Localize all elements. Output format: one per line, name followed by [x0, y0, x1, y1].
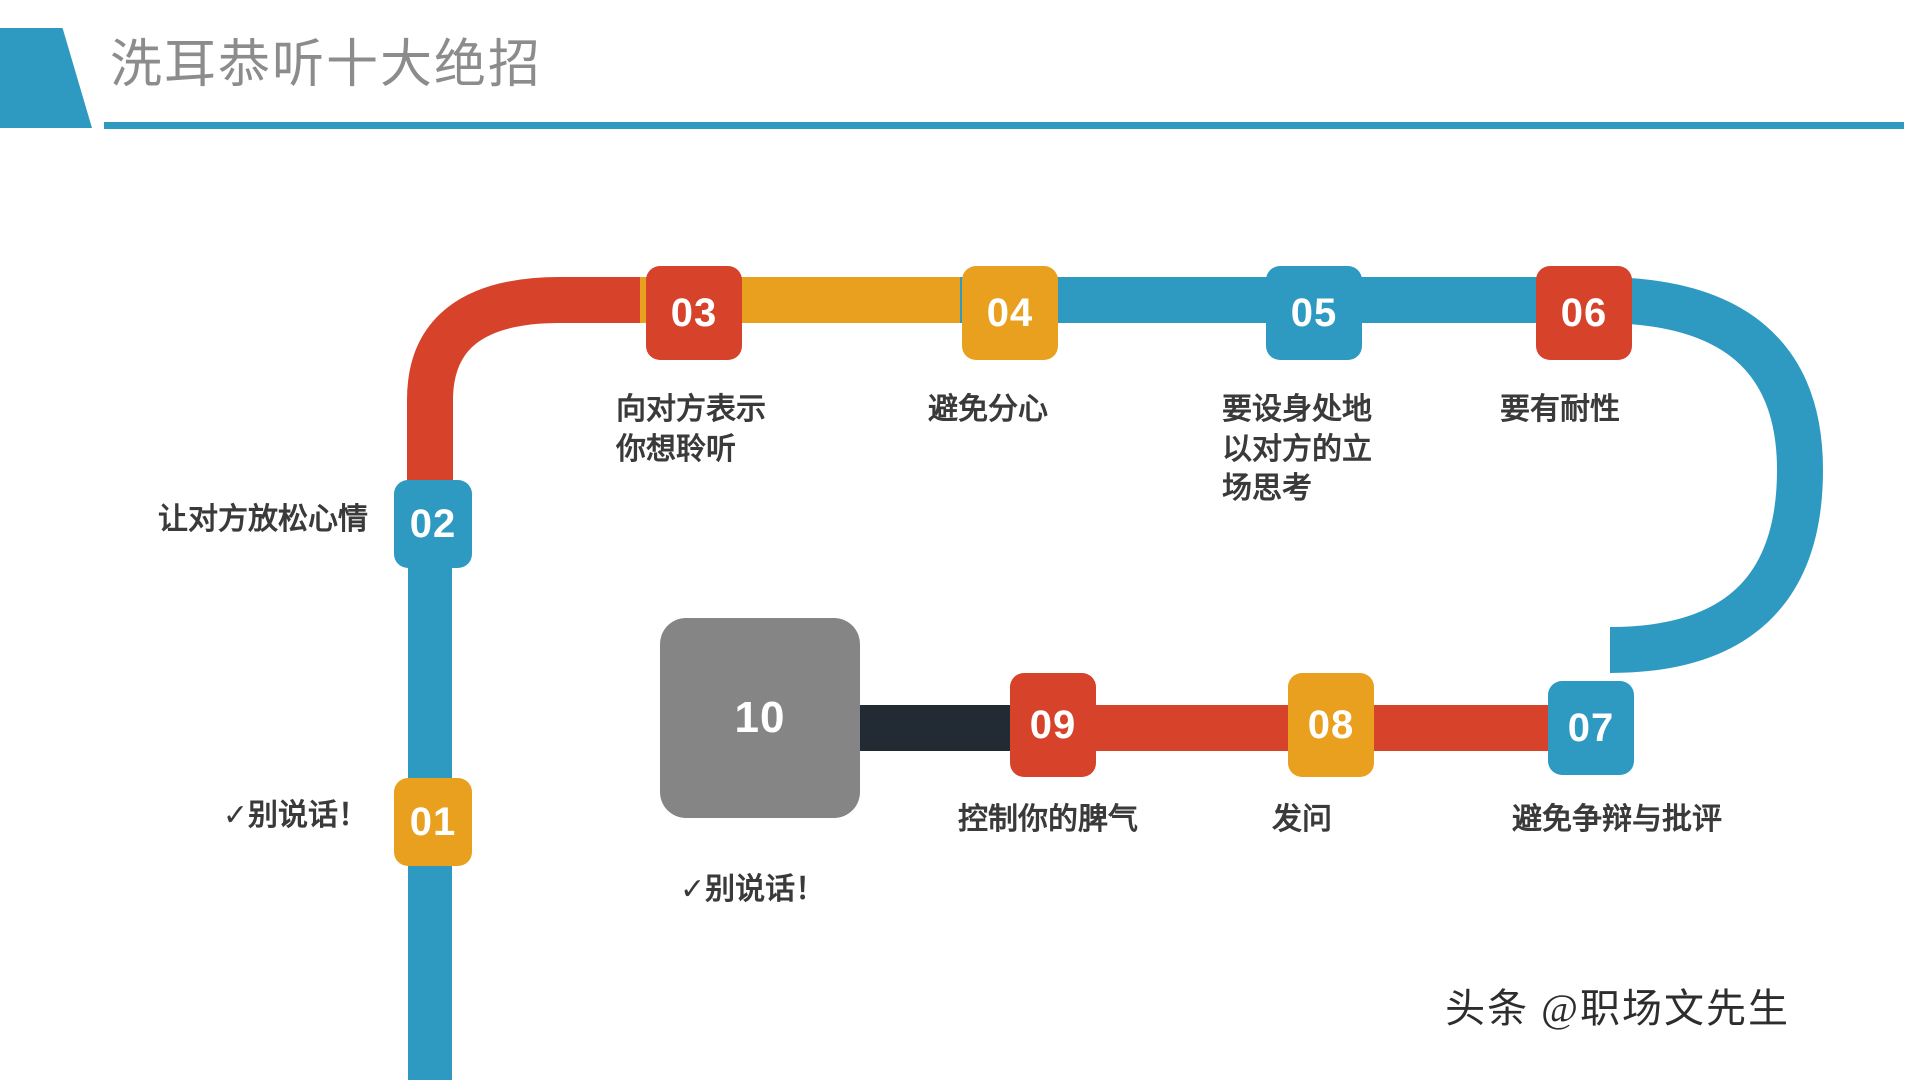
node-09-number: 09: [1030, 703, 1077, 748]
node-03-number: 03: [671, 291, 718, 336]
node-06-number: 06: [1561, 291, 1608, 336]
node-08-number: 08: [1308, 703, 1355, 748]
node-08-label: 发问: [1272, 800, 1472, 840]
node-05-number: 05: [1291, 291, 1338, 336]
node-01[interactable]: 01: [394, 778, 472, 866]
node-07-label: 避免争辩与批评: [1512, 800, 1852, 840]
node-10[interactable]: 10: [660, 618, 860, 818]
node-09-label: 控制你的脾气: [958, 800, 1208, 840]
node-02[interactable]: 02: [394, 480, 472, 568]
node-02-number: 02: [410, 502, 457, 547]
node-03[interactable]: 03: [646, 266, 742, 360]
node-04[interactable]: 04: [962, 266, 1058, 360]
node-10-label: ✓别说话！: [680, 870, 980, 910]
process-flow-diagram: 03 向对方表示 你想聆听 04 避免分心 05 要设身处地 以对方的立 场思考…: [0, 0, 1920, 1080]
node-08[interactable]: 08: [1288, 673, 1374, 777]
node-04-number: 04: [987, 291, 1034, 336]
watermark-text: 头条 @职场文先生: [1445, 976, 1790, 1034]
node-07[interactable]: 07: [1548, 681, 1634, 775]
node-01-label: ✓别说话！: [68, 796, 368, 836]
node-06-label: 要有耐性: [1500, 390, 1800, 430]
node-05[interactable]: 05: [1266, 266, 1362, 360]
node-04-label: 避免分心: [928, 390, 1228, 430]
node-07-number: 07: [1568, 706, 1615, 751]
node-05-label: 要设身处地 以对方的立 场思考: [1222, 390, 1482, 509]
node-01-number: 01: [410, 800, 457, 845]
connector-layer: [0, 0, 1920, 1080]
node-09[interactable]: 09: [1010, 673, 1096, 777]
node-02-label: 让对方放松心情: [48, 500, 368, 540]
node-06[interactable]: 06: [1536, 266, 1632, 360]
node-10-number: 10: [735, 693, 786, 743]
node-03-label: 向对方表示 你想聆听: [616, 390, 916, 469]
